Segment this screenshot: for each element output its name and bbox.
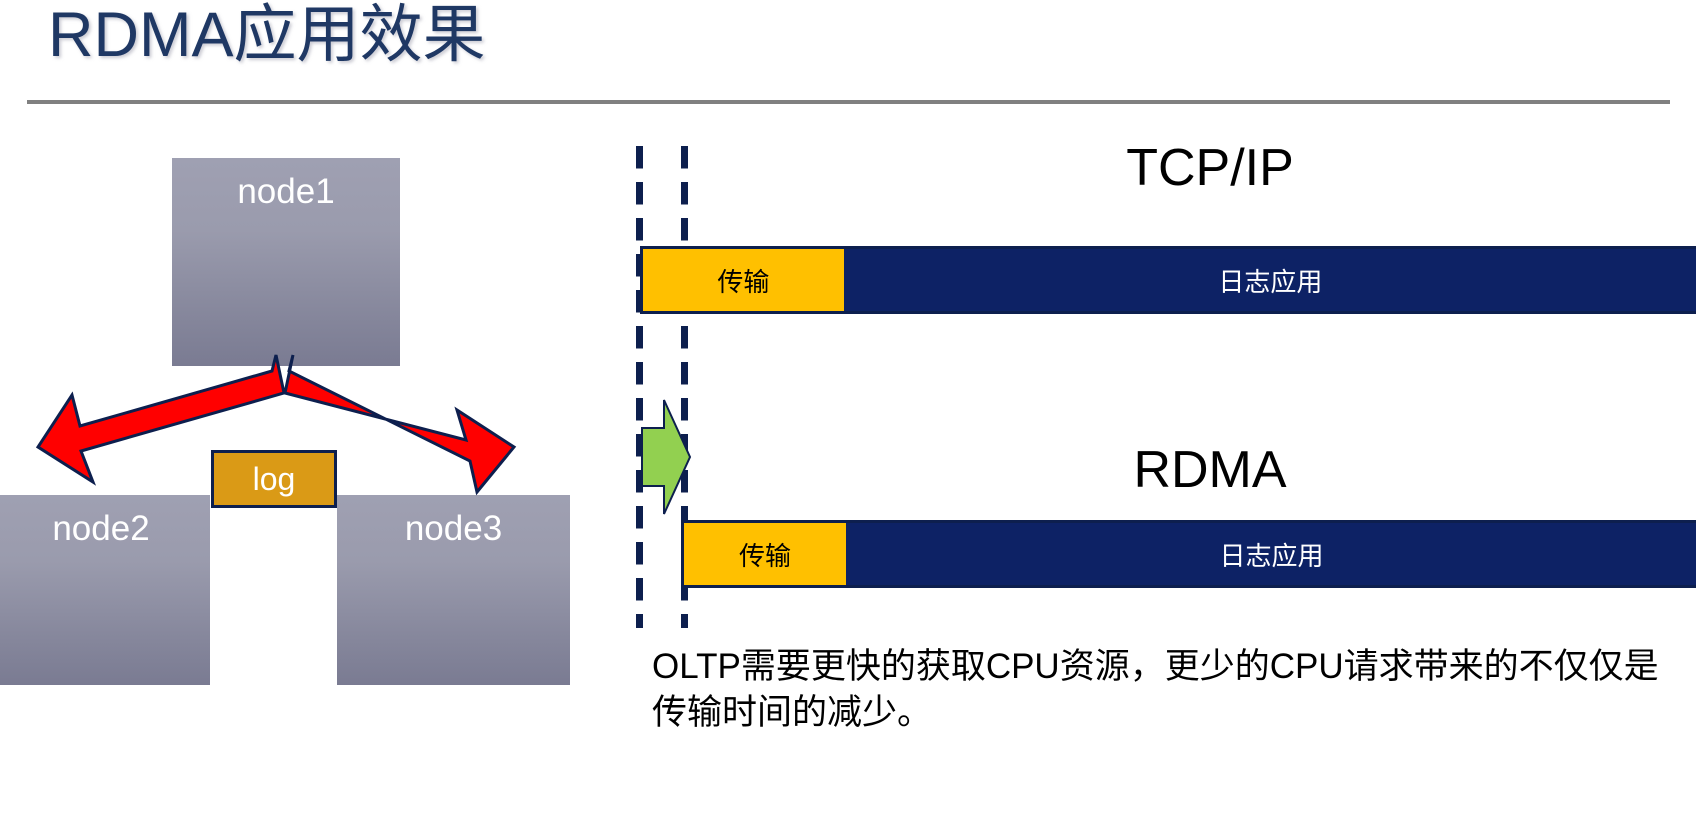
caption-text: OLTP需要更快的获取CPU资源，更少的CPU请求带来的不仅仅是传输时间的减少。 [652, 644, 1682, 735]
page-title: RDMA应用效果 [48, 2, 486, 68]
tcpip-apply-segment: 日志应用 [844, 249, 1696, 311]
cluster-diagram: node1 node2 node3 log [0, 110, 610, 710]
guide-line-rdma-start [681, 146, 688, 628]
log-box[interactable]: log [211, 450, 337, 508]
guide-line-start [636, 146, 643, 628]
log-box-label: log [253, 461, 296, 497]
tcpip-transfer-segment: 传输 [643, 249, 844, 311]
rdma-apply-segment: 日志应用 [846, 523, 1696, 585]
rdma-bar[interactable]: 传输 日志应用 [681, 520, 1696, 588]
title-divider [27, 100, 1670, 104]
improvement-arrow-icon [638, 398, 692, 516]
rdma-title: RDMA [900, 440, 1520, 500]
replication-arrows [0, 110, 610, 710]
tcpip-title: TCP/IP [900, 138, 1520, 198]
tcpip-bar[interactable]: 传输 日志应用 [640, 246, 1696, 314]
rdma-transfer-segment: 传输 [684, 523, 846, 585]
